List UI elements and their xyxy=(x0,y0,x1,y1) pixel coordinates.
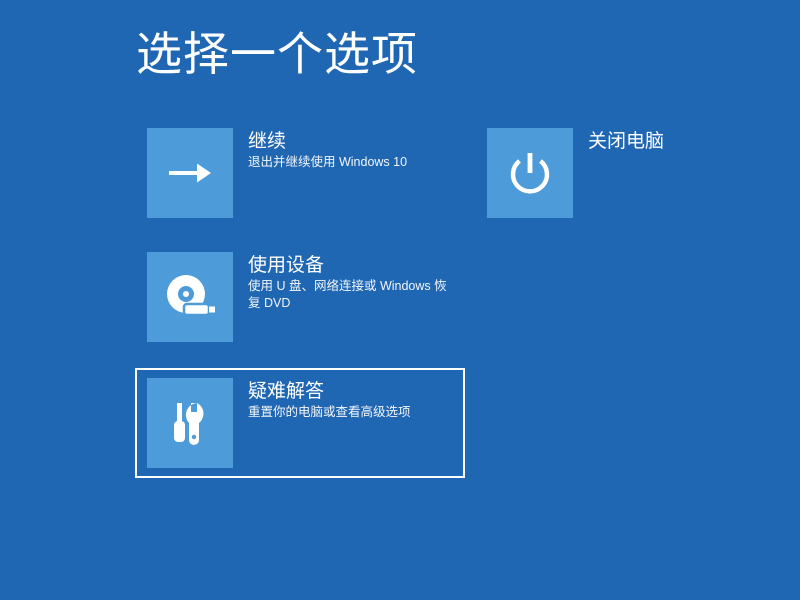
screwdriver-wrench-icon xyxy=(167,399,213,447)
option-continue-title: 继续 xyxy=(248,130,407,154)
arrow-right-icon xyxy=(167,155,213,191)
option-continue-subtitle: 退出并继续使用 Windows 10 xyxy=(248,154,407,171)
option-turn-off-your-pc-tile xyxy=(487,128,573,218)
option-use-a-device-subtitle: 使用 U 盘、网络连接或 Windows 恢复 DVD xyxy=(248,278,453,312)
options-column-right: 关闭电脑 xyxy=(475,118,785,228)
option-continue-tile xyxy=(147,128,233,218)
page-title: 选择一个选项 xyxy=(136,26,418,82)
option-use-a-device-tile xyxy=(147,252,233,342)
recovery-screen: 选择一个选项 继续 退出并继续使用 Windows 10 xyxy=(0,0,800,600)
option-use-a-device-text: 使用设备 使用 U 盘、网络连接或 Windows 恢复 DVD xyxy=(233,252,453,312)
options-column-left: 继续 退出并继续使用 Windows 10 xyxy=(135,118,465,478)
option-troubleshoot-subtitle: 重置你的电脑或查看高级选项 xyxy=(248,404,411,421)
power-icon xyxy=(506,149,554,197)
option-troubleshoot-title: 疑难解答 xyxy=(248,380,411,404)
option-use-a-device[interactable]: 使用设备 使用 U 盘、网络连接或 Windows 恢复 DVD xyxy=(135,242,465,352)
disc-usb-icon xyxy=(163,274,217,320)
option-troubleshoot-text: 疑难解答 重置你的电脑或查看高级选项 xyxy=(233,378,411,421)
option-turn-off-your-pc-title: 关闭电脑 xyxy=(588,130,664,154)
option-troubleshoot-tile xyxy=(147,378,233,468)
option-continue[interactable]: 继续 退出并继续使用 Windows 10 xyxy=(135,118,465,228)
option-troubleshoot[interactable]: 疑难解答 重置你的电脑或查看高级选项 xyxy=(135,368,465,478)
option-use-a-device-title: 使用设备 xyxy=(248,254,453,278)
option-turn-off-your-pc-text: 关闭电脑 xyxy=(573,128,664,154)
option-continue-text: 继续 退出并继续使用 Windows 10 xyxy=(233,128,407,171)
option-turn-off-your-pc[interactable]: 关闭电脑 xyxy=(475,118,785,228)
